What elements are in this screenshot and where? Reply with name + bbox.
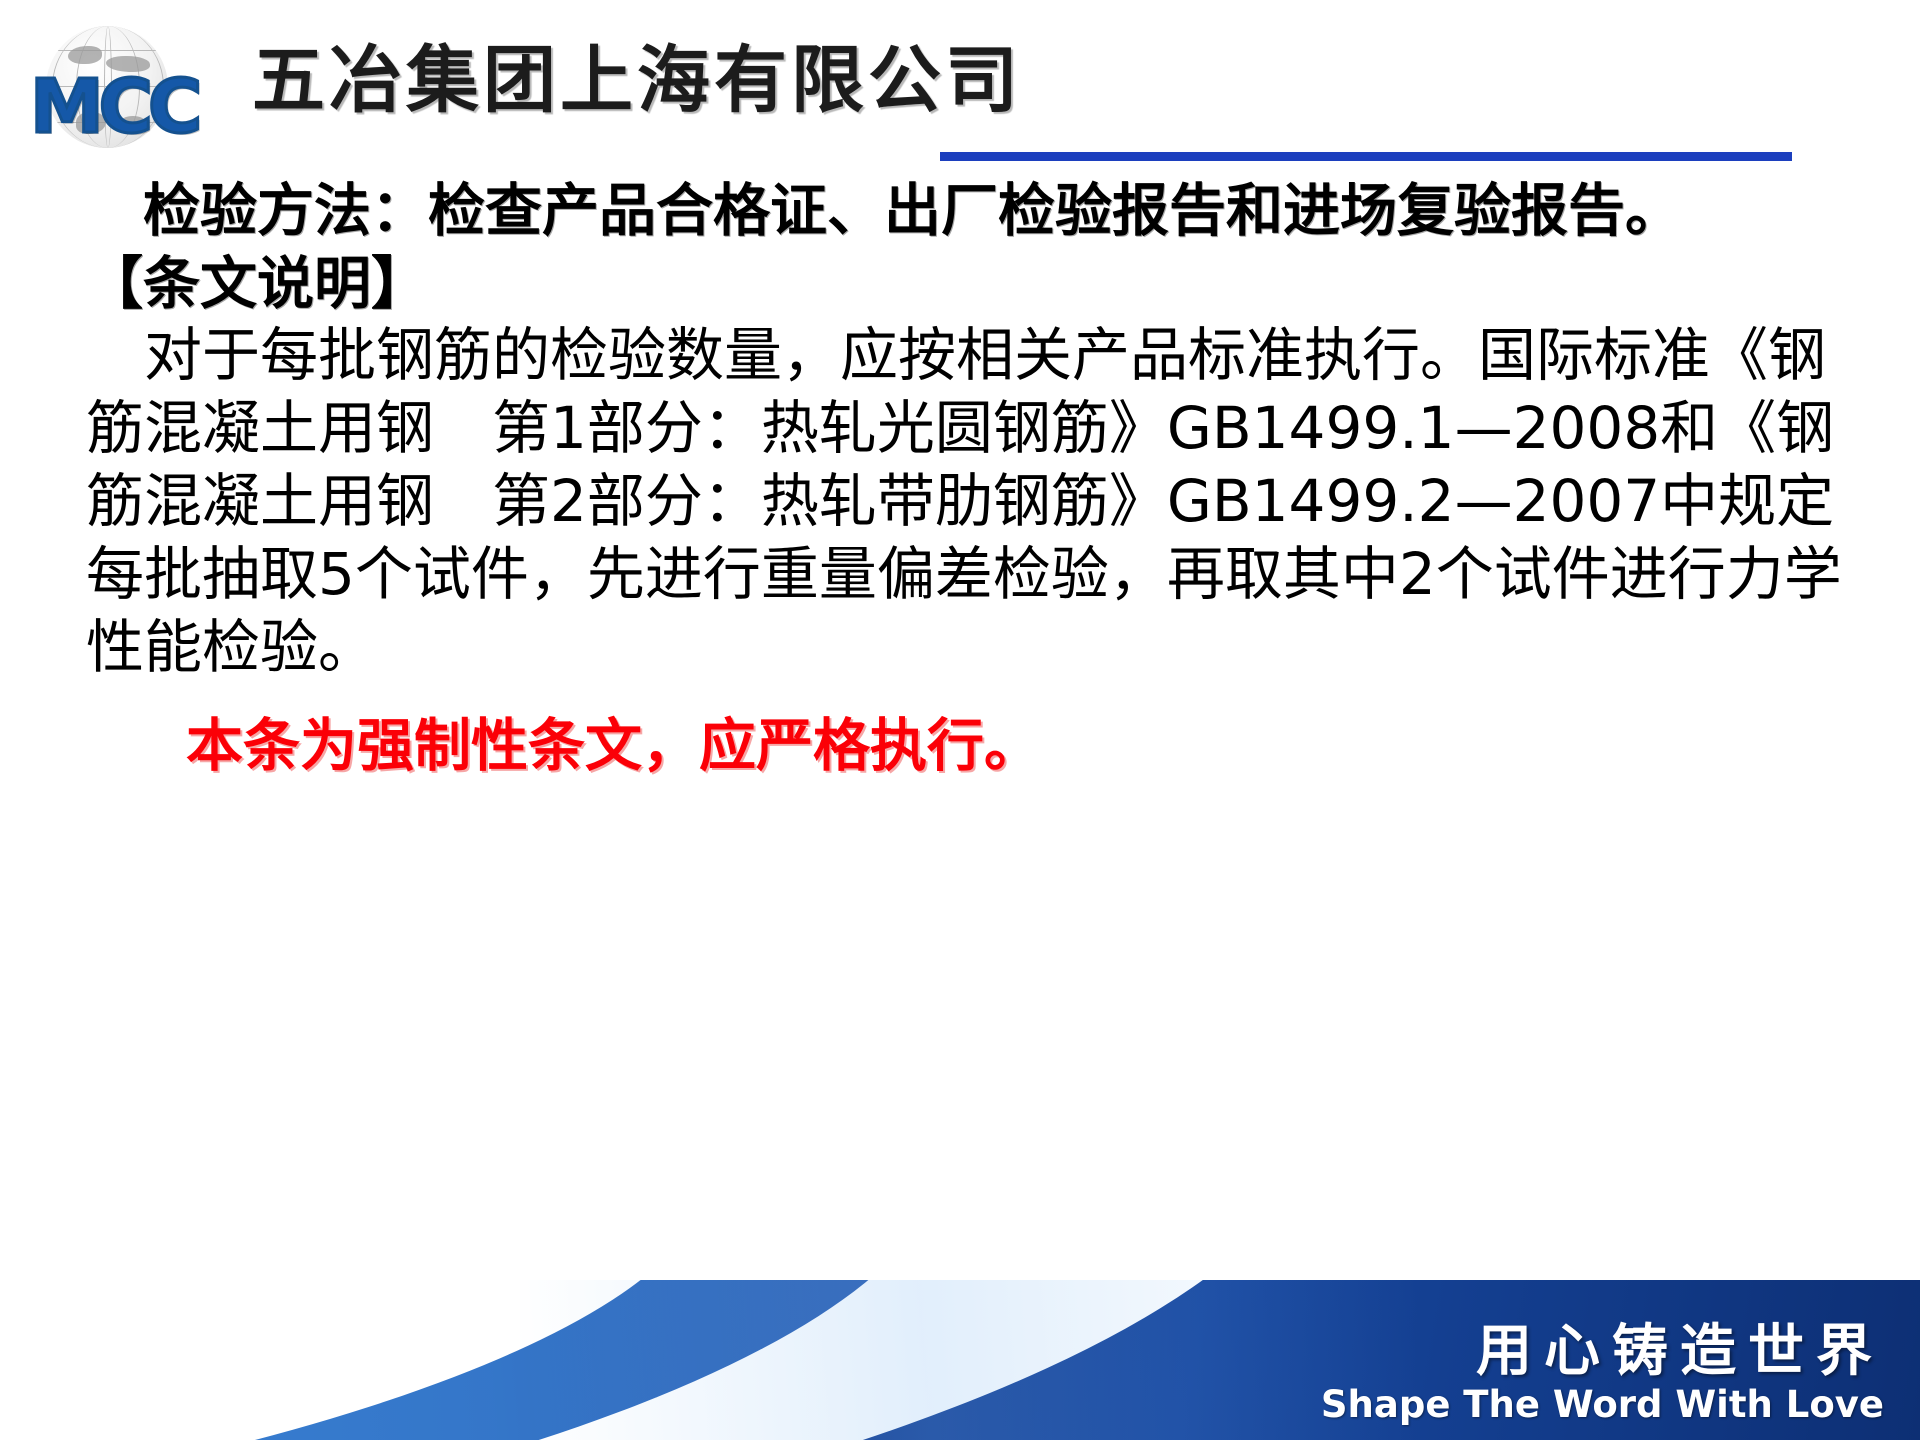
slide-footer: 用心铸造世界 Shape The Word With Love (0, 1280, 1920, 1440)
footer-sheen (520, 1280, 1420, 1440)
slogan-english: Shape The Word With Love (1321, 1383, 1884, 1426)
slide-header: MCC 五冶集团上海有限公司 (0, 0, 1920, 172)
explanation-paragraph: 对于每批钢筋的检验数量，应按相关产品标准执行。国际标准《钢筋混凝土用钢 第1部分… (86, 319, 1846, 684)
mandatory-clause-note: 本条为强制性条文，应严格执行。 (86, 710, 1846, 782)
company-name: 五冶集团上海有限公司 (252, 38, 1022, 124)
slide-canvas: MCC 五冶集团上海有限公司 检验方法：检查产品合格证、出厂检验报告和进场复验报… (0, 0, 1920, 1440)
company-logo: MCC (28, 22, 248, 152)
header-divider (940, 152, 1792, 161)
slogan-chinese: 用心铸造世界 (1321, 1321, 1884, 1383)
section-title-clause-explanation: 【条文说明】 (86, 249, 1846, 319)
slide-body: 检验方法：检查产品合格证、出厂检验报告和进场复验报告。 【条文说明】 对于每批钢… (86, 176, 1846, 782)
mcc-wordmark: MCC (30, 70, 248, 144)
inspection-method-text: 检验方法：检查产品合格证、出厂检验报告和进场复验报告。 (86, 176, 1846, 247)
footer-slogan: 用心铸造世界 Shape The Word With Love (1321, 1321, 1884, 1426)
